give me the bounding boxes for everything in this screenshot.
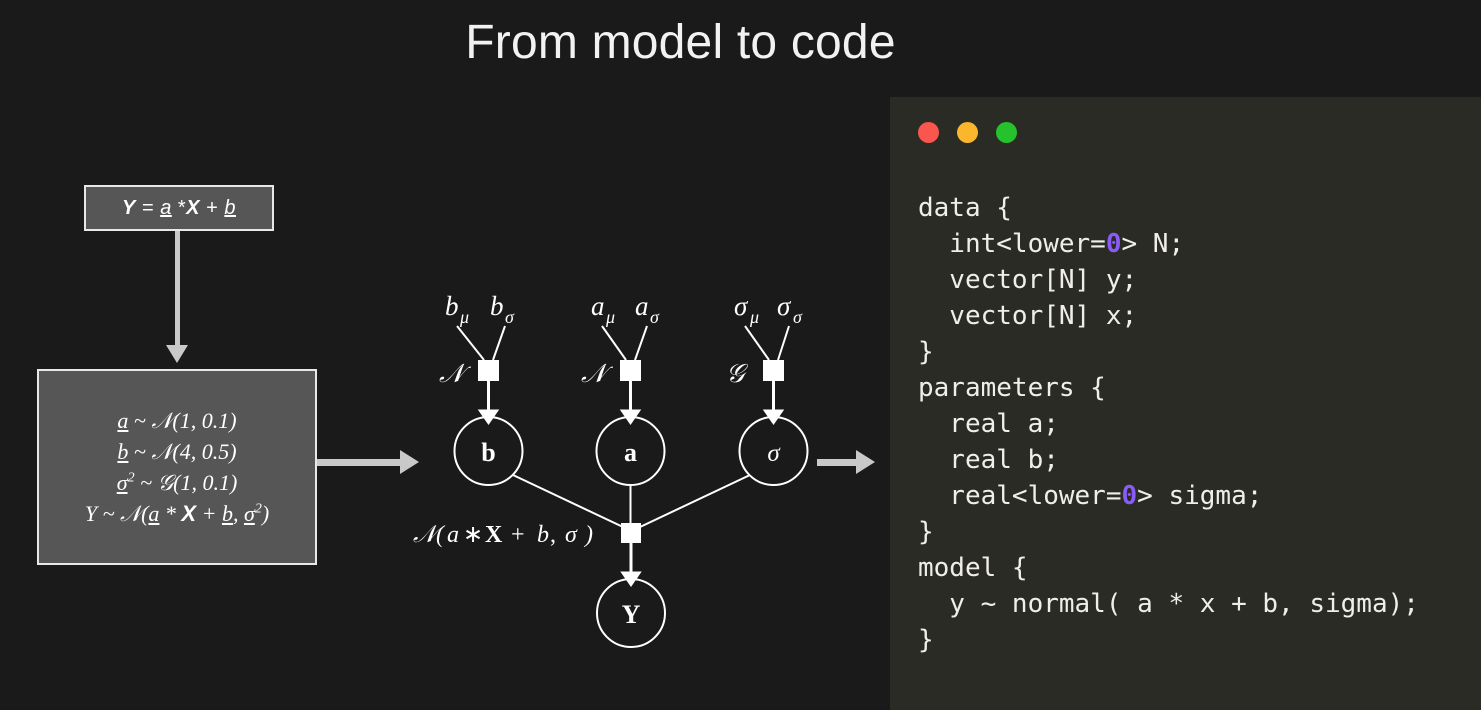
- factor-node-b-prior: [478, 360, 499, 381]
- svg-text:μ: μ: [605, 307, 615, 327]
- prior-line-b: b ~ 𝒩(4, 0.5): [117, 436, 236, 467]
- equation-plus: +: [206, 197, 218, 219]
- svg-text:): ): [583, 522, 593, 548]
- hyper-label-b-sigma: b σ: [490, 291, 515, 327]
- factor-node-sigma-prior: [763, 360, 784, 381]
- svg-text:b: b: [445, 291, 459, 321]
- hyper-label-b-mu: b μ: [445, 291, 469, 327]
- equation-equals: =: [142, 197, 154, 219]
- hyper-label-sigma-sigma: σ σ: [777, 291, 803, 327]
- graphical-model-diagram: b μ b σ a μ a σ σ μ σ σ 𝒩 𝒩 𝒢: [395, 270, 835, 660]
- hyper-edges: [457, 326, 789, 360]
- equation-intercept: b: [224, 197, 236, 219]
- equation-times: *: [178, 197, 186, 219]
- svg-text:μ: μ: [749, 307, 759, 327]
- svg-text:a: a: [591, 291, 605, 321]
- svg-text:+: +: [511, 522, 525, 548]
- prior-line-a: a ~ 𝒩(1, 0.1): [117, 405, 236, 436]
- svg-text:σ: σ: [650, 307, 660, 327]
- svg-text:σ: σ: [505, 307, 515, 327]
- equation-slope: a: [160, 197, 172, 219]
- factor-node-likelihood: [621, 523, 641, 543]
- factor-label-a-prior: 𝒩: [581, 359, 614, 388]
- svg-text:a: a: [447, 522, 459, 548]
- svg-text:a: a: [635, 291, 649, 321]
- factor-label-sigma-prior: 𝒢: [726, 359, 749, 388]
- variable-node-sigma-label: σ: [767, 440, 781, 467]
- factor-label-likelihood: 𝒩( a ∗ X + b , σ ): [413, 522, 593, 548]
- arrow-equation-to-priors-shaft: [175, 231, 180, 347]
- svg-text:μ: μ: [459, 307, 469, 327]
- hyper-label-a-mu: a μ: [591, 291, 615, 327]
- likelihood-edges: [513, 475, 750, 527]
- equation-lhs: Y: [122, 197, 136, 219]
- hyper-label-sigma-mu: σ μ: [734, 291, 759, 327]
- equation-text: Y = a *X + b: [122, 197, 236, 220]
- factor-label-b-prior: 𝒩: [439, 359, 472, 388]
- svg-text:σ: σ: [777, 291, 792, 321]
- svg-text:∗: ∗: [463, 522, 483, 548]
- equation-predictor: X: [186, 197, 200, 219]
- prior-line-sigma: σ2 ~ 𝒢(1, 0.1): [117, 467, 238, 498]
- maximize-icon[interactable]: [996, 122, 1017, 143]
- equation-box: Y = a *X + b: [84, 185, 274, 231]
- code-window: data { int<lower=0> N; vector[N] y; vect…: [890, 97, 1481, 710]
- svg-text:b: b: [490, 291, 504, 321]
- variable-node-b-label: b: [481, 438, 495, 467]
- svg-text:𝒩(: 𝒩(: [413, 522, 446, 548]
- factor-node-a-prior: [620, 360, 641, 381]
- code-content[interactable]: data { int<lower=0> N; vector[N] y; vect…: [918, 190, 1419, 658]
- svg-text:σ: σ: [565, 522, 578, 548]
- page-title: From model to code: [0, 14, 1361, 72]
- svg-text:,: ,: [550, 522, 556, 548]
- minimize-icon[interactable]: [957, 122, 978, 143]
- arrow-equation-to-priors-head: [166, 345, 188, 363]
- variable-node-y-label: Y: [622, 600, 641, 629]
- prior-line-likelihood: Y ~ 𝒩(a * X + b, σ2): [85, 498, 269, 529]
- priors-box: a ~ 𝒩(1, 0.1) b ~ 𝒩(4, 0.5) σ2 ~ 𝒢(1, 0.…: [37, 369, 317, 565]
- hyper-label-a-sigma: a σ: [635, 291, 660, 327]
- window-controls: [918, 122, 1017, 143]
- arrow-priors-to-graph-shaft: [317, 459, 400, 466]
- svg-text:X: X: [485, 522, 503, 548]
- arrow-graph-to-code-head: [856, 450, 875, 474]
- svg-text:σ: σ: [793, 307, 803, 327]
- svg-text:b: b: [537, 522, 549, 548]
- svg-text:σ: σ: [734, 291, 749, 321]
- variable-node-a-label: a: [624, 438, 637, 467]
- close-icon[interactable]: [918, 122, 939, 143]
